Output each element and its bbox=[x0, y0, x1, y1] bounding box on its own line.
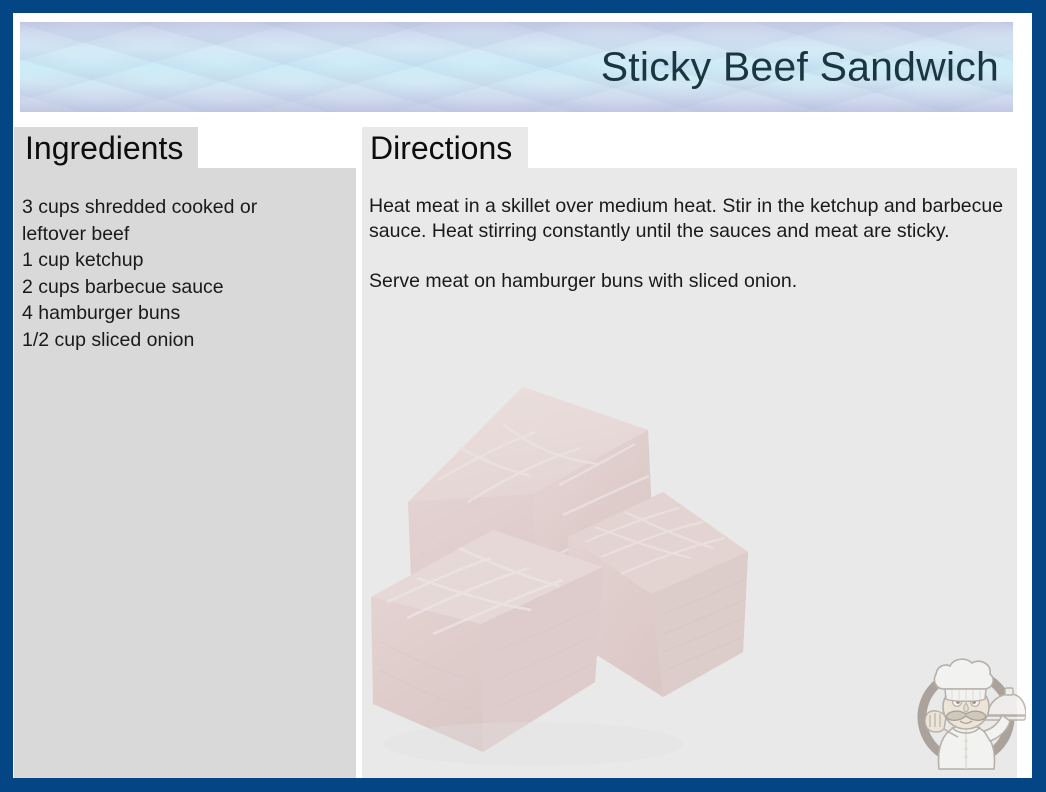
directions-paragraph: Serve meat on hamburger buns with sliced… bbox=[369, 269, 1009, 294]
slide-border-left bbox=[0, 0, 13, 792]
beef-cubes-photo bbox=[363, 352, 773, 767]
directions-paragraph: Heat meat in a skillet over medium heat.… bbox=[369, 194, 1009, 244]
list-item: 1 cup ketchup bbox=[22, 247, 322, 274]
ingredients-header-tab: Ingredients bbox=[14, 127, 198, 168]
list-item: 1/2 cup sliced onion bbox=[22, 327, 322, 354]
slide-border-top bbox=[0, 0, 1046, 13]
ingredients-list: 3 cups shredded cooked or leftover beef … bbox=[22, 194, 322, 353]
header-banner: Sticky Beef Sandwich bbox=[20, 22, 1013, 112]
list-item: 3 cups shredded cooked or leftover beef bbox=[22, 194, 322, 247]
directions-body: Heat meat in a skillet over medium heat.… bbox=[369, 194, 1009, 294]
page-title: Sticky Beef Sandwich bbox=[601, 44, 999, 91]
directions-heading: Directions bbox=[370, 132, 512, 164]
recipe-slide: Sticky Beef Sandwich Ingredients 3 cups … bbox=[0, 0, 1046, 792]
ingredients-heading: Ingredients bbox=[25, 132, 183, 164]
chef-logo bbox=[906, 645, 1026, 770]
directions-header-tab: Directions bbox=[362, 127, 528, 168]
list-item: 4 hamburger buns bbox=[22, 300, 322, 327]
list-item: 2 cups barbecue sauce bbox=[22, 274, 322, 301]
slide-border-right bbox=[1032, 0, 1046, 792]
slide-border-bottom bbox=[0, 778, 1046, 792]
